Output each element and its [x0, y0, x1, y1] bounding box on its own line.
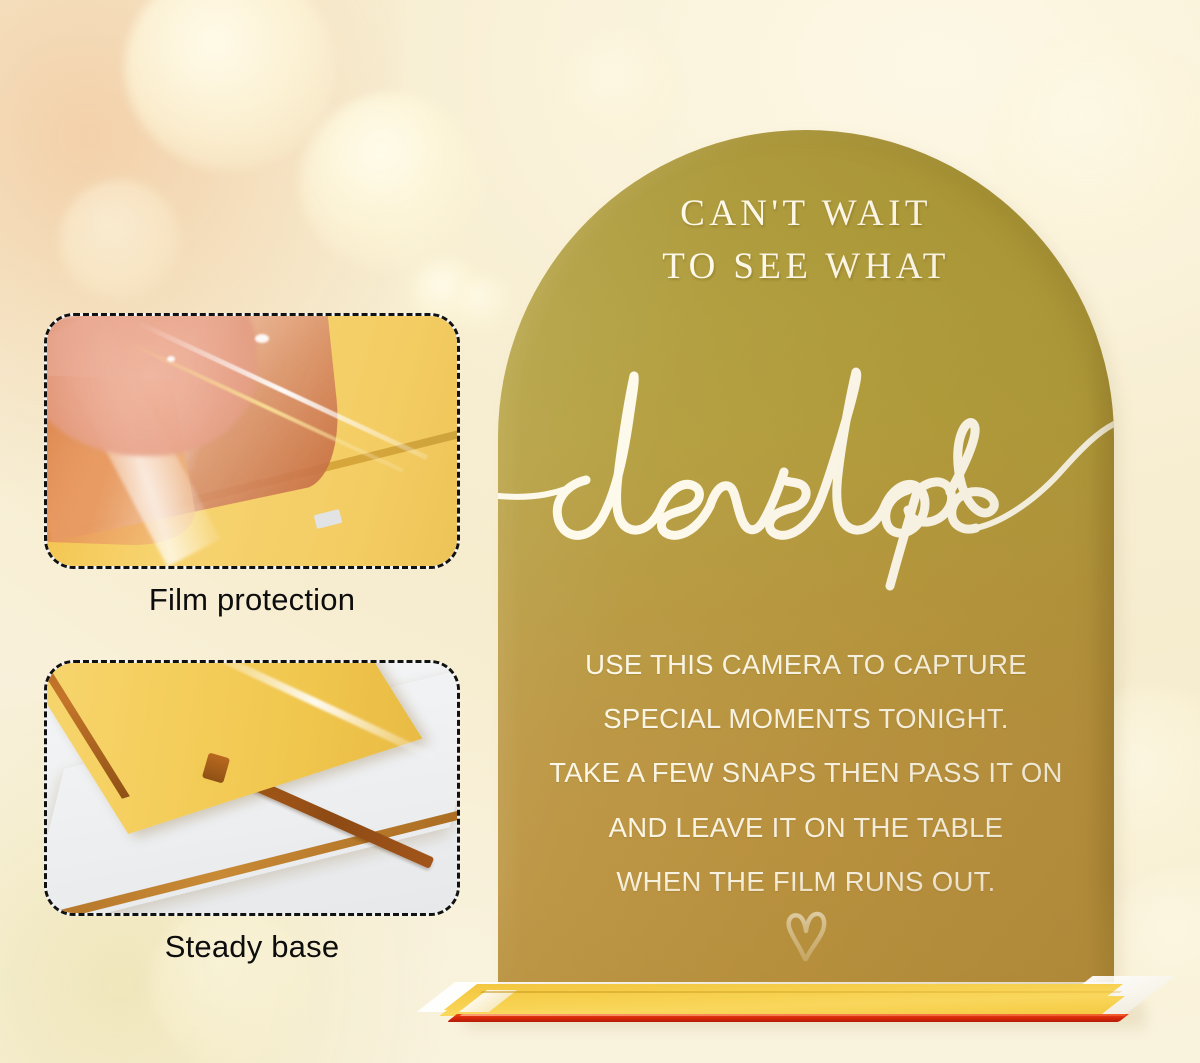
acrylic-stand-base [455, 976, 1155, 1044]
body-line: TAKE A FEW SNAPS THEN PASS IT ON [498, 746, 1114, 800]
bokeh-circle [60, 180, 180, 300]
headline-line-1: CAN'T WAIT [680, 193, 932, 234]
film-protection-photo [47, 316, 457, 566]
feature-caption-steady-base: Steady base [44, 929, 460, 965]
feature-card-film-protection [44, 313, 460, 569]
arch-acrylic-sign: CAN'T WAIT TO SEE WHAT [498, 130, 1114, 998]
body-line: USE THIS CAMERA TO CAPTURE [498, 638, 1114, 692]
feature-caption-film-protection: Film protection [44, 582, 460, 618]
feature-card-steady-base [44, 660, 460, 916]
specular-highlight [255, 334, 269, 343]
bokeh-circle [320, 95, 465, 240]
panel-right-shading [1088, 130, 1114, 998]
steady-base-photo [47, 663, 457, 913]
specular-highlight [167, 356, 175, 362]
sign-script-word [498, 368, 1114, 568]
sign-headline: CAN'T WAIT TO SEE WHAT [498, 188, 1114, 293]
base-top-face [444, 984, 1123, 1010]
headline-line-2: TO SEE WHAT [498, 241, 1114, 294]
sign-body-copy: USE THIS CAMERA TO CAPTURE SPECIAL MOMEN… [498, 638, 1114, 909]
body-line: AND LEAVE IT ON THE TABLE [498, 801, 1114, 855]
sign-panel: CAN'T WAIT TO SEE WHAT [498, 130, 1114, 998]
base-seam [480, 991, 1123, 993]
body-line: SPECIAL MOMENTS TONIGHT. [498, 692, 1114, 746]
base-front-edge-gloss [460, 1014, 1127, 1016]
product-infographic: Film protection Steady base CAN'T WAIT T… [0, 0, 1200, 1063]
